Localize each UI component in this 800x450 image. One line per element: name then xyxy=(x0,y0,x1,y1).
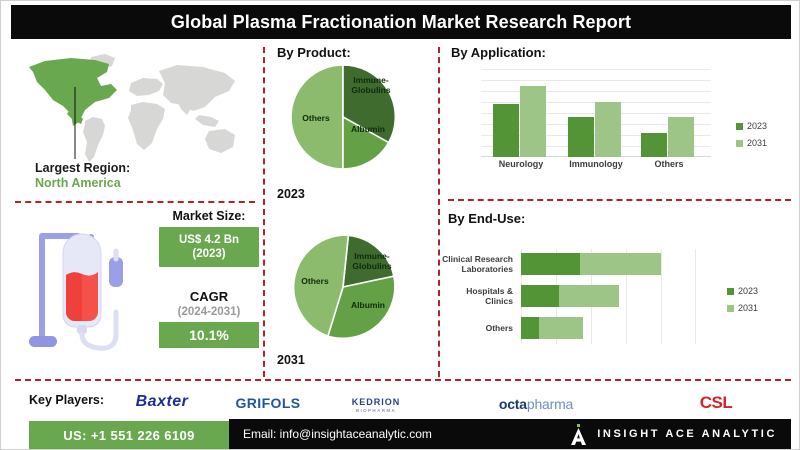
logo-octapharma: octapharma xyxy=(471,396,601,412)
application-column-chart: Neurology Immunology Others xyxy=(481,69,711,157)
legend-swatch-2031 xyxy=(727,305,734,312)
insight-ace-a-icon xyxy=(570,424,587,445)
application-chart-legend: 2023 2031 xyxy=(736,121,767,155)
legend-item-2031: 2031 xyxy=(736,138,767,148)
footer-phone-bar: US: +1 551 226 6109 xyxy=(29,421,229,449)
legend-label-2023: 2023 xyxy=(738,286,758,296)
bar-2031-neurology xyxy=(520,86,546,157)
legend-item-2023: 2023 xyxy=(727,286,758,296)
market-size-panel: Market Size: US$ 4.2 Bn (2023) CAGR (202… xyxy=(159,209,259,374)
gridline xyxy=(661,249,662,344)
pie-2023-label-others: Others xyxy=(296,113,336,123)
bar-2031-hospitals-clinics xyxy=(559,285,619,307)
category-label-others-enduse: Others xyxy=(403,323,513,333)
bar-2031-clinical-research xyxy=(580,253,661,275)
footer-phone: US: +1 551 226 6109 xyxy=(63,428,195,443)
largest-region-value: North America xyxy=(35,176,130,191)
legend-swatch-2023 xyxy=(736,123,743,130)
logo-baxter: Baxter xyxy=(107,393,217,411)
cagr-value: 10.1% xyxy=(159,322,259,348)
market-size-year: (2023) xyxy=(163,247,255,261)
pie-2023-label-immune: Immune-Globulins xyxy=(343,75,399,95)
bar-2031-others-enduse xyxy=(539,317,583,339)
market-size-title: Market Size: xyxy=(159,209,259,223)
by-enduse-title: By End-Use: xyxy=(448,211,525,226)
legend-item-2031: 2031 xyxy=(727,303,758,313)
bar-2023-others-enduse xyxy=(521,317,539,339)
cagr-range: (2024-2031) xyxy=(159,306,259,318)
legend-swatch-2031 xyxy=(736,140,743,147)
pie-2023-year: 2023 xyxy=(277,187,305,201)
category-label-hospitals-clinics: Hospitals &Clinics xyxy=(403,286,513,306)
column-group-immunology: Immunology xyxy=(566,69,626,157)
brand-name: INSIGHT ACE ANALYTIC xyxy=(597,428,777,440)
bar-2023-others xyxy=(641,133,667,157)
logo-kedrion-subtext: BIOPHARMA xyxy=(331,408,421,413)
logo-octapharma-text: octa xyxy=(499,396,527,412)
logo-kedrion-text: KEDRION xyxy=(331,397,421,407)
bar-2023-hospitals-clinics xyxy=(521,285,559,307)
cagr-title: CAGR xyxy=(159,289,259,304)
logo-kedrion: KEDRION BIOPHARMA xyxy=(331,397,421,413)
divider-horizontal-left xyxy=(15,201,255,203)
legend-label-2023: 2023 xyxy=(747,121,767,131)
legend-item-2023: 2023 xyxy=(736,121,767,131)
footer-email: Email: info@insightaceanalytic.com xyxy=(243,427,432,441)
pie-chart-2031: Immune-Globulins Albumin Others xyxy=(288,232,398,342)
largest-region-label: Largest Region: xyxy=(35,161,130,176)
pie-2031-label-albumin: Albumin xyxy=(346,300,390,310)
key-players-label: Key Players: xyxy=(29,393,104,407)
divider-horizontal-bottom xyxy=(15,379,791,381)
by-application-title: By Application: xyxy=(451,45,546,60)
enduse-bar-chart: Clinical ResearchLaboratories Hospitals … xyxy=(521,249,696,344)
logo-grifols: GRIFOLS xyxy=(223,395,313,411)
logo-octapharma-text2: pharma xyxy=(527,396,573,412)
largest-region-caption: Largest Region: North America xyxy=(35,161,130,191)
column-group-others: Others xyxy=(639,69,699,157)
pie-chart-2023: Immune-Globulins Albumin Others xyxy=(288,62,398,172)
map-panel: Largest Region: North America xyxy=(13,49,253,199)
legend-label-2031: 2031 xyxy=(738,303,758,313)
column-group-neurology: Neurology xyxy=(491,69,551,157)
infographic-page: Global Plasma Fractionation Market Resea… xyxy=(0,0,800,450)
bar-2023-immunology xyxy=(568,117,594,157)
bar-2031-immunology xyxy=(595,102,621,157)
pie-2031-year: 2031 xyxy=(277,353,305,367)
footer-contact-bar: Email: info@insightaceanalytic.com INSIG… xyxy=(229,419,791,449)
pie-2023-label-albumin: Albumin xyxy=(346,124,390,134)
header-bar: Global Plasma Fractionation Market Resea… xyxy=(11,5,791,39)
blood-bag-illustration xyxy=(23,217,153,372)
gridline xyxy=(695,249,696,344)
enduse-chart-legend: 2023 2031 xyxy=(727,286,758,320)
divider-vertical-left xyxy=(263,47,265,377)
iv-blood-bag-icon xyxy=(23,217,153,372)
page-title: Global Plasma Fractionation Market Resea… xyxy=(171,12,631,33)
market-size-value-box: US$ 4.2 Bn (2023) xyxy=(159,227,259,267)
bar-2023-clinical-research xyxy=(521,253,580,275)
pie-2031-label-others: Others xyxy=(294,276,336,286)
category-label-others: Others xyxy=(624,159,714,169)
bar-2031-others xyxy=(668,117,694,157)
bar-2023-neurology xyxy=(493,104,519,157)
legend-label-2031: 2031 xyxy=(747,138,767,148)
divider-horizontal-right xyxy=(448,199,791,201)
category-label-clinical-research: Clinical ResearchLaboratories xyxy=(403,254,513,274)
market-size-value: US$ 4.2 Bn xyxy=(163,233,255,247)
by-product-title: By Product: xyxy=(277,45,351,60)
logo-csl: CSL xyxy=(681,393,751,413)
brand-logo: INSIGHT ACE ANALYTIC xyxy=(570,419,777,449)
pie-2031-svg xyxy=(288,232,398,342)
pie-2031-label-immune: Immune-Globulins xyxy=(344,251,400,271)
world-map xyxy=(13,49,253,169)
legend-swatch-2023 xyxy=(727,288,734,295)
